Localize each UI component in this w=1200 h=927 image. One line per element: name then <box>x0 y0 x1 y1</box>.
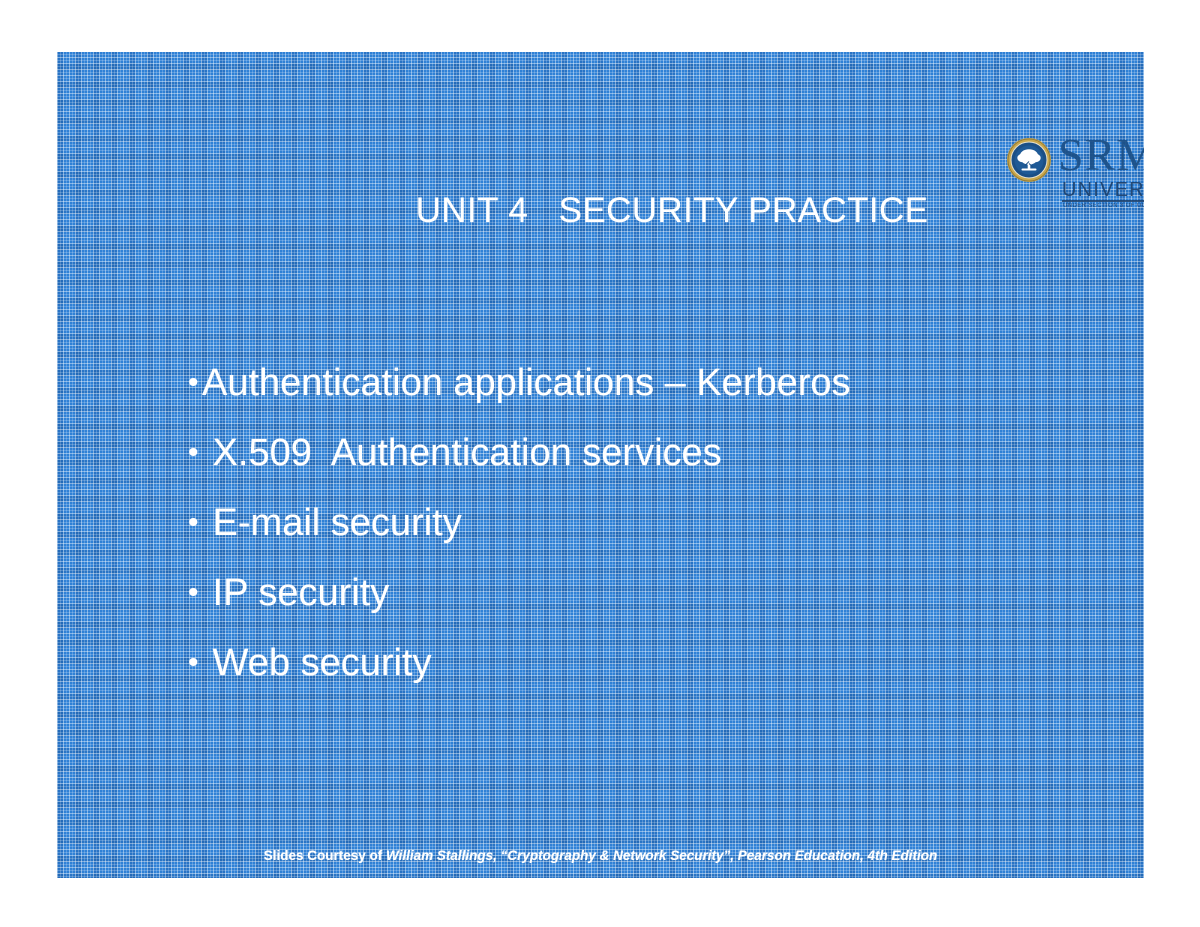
list-item-label: IP security <box>202 558 389 628</box>
list-item-label: E-mail security <box>202 488 462 558</box>
presentation-slide: SRM UNIVERSITY UNDER SECTION 3 OF UGC AC… <box>57 52 1144 878</box>
slide-title: UNIT 4 SECURITY PRACTICE <box>362 190 982 232</box>
slide-footer-credit: Slides Courtesy of William Stallings, “C… <box>57 847 1144 865</box>
list-item: • IP security <box>188 558 1068 628</box>
bullet-marker-icon: • <box>188 348 202 418</box>
logo-subtitle: UNIVERSITY <box>1062 179 1144 201</box>
footer-italic-text: William Stallings, “Cryptography & Netwo… <box>382 848 937 863</box>
list-item: • Web security <box>188 628 1068 698</box>
list-item-label: Authentication applications – Kerberos <box>202 348 851 418</box>
list-item: • Authentication applications – Kerberos <box>188 348 1068 418</box>
list-item-label: X.509 Authentication services <box>202 418 722 488</box>
logo-wordmark: SRM <box>1058 132 1144 178</box>
list-item-label: Web security <box>202 628 431 698</box>
slide-page: SRM UNIVERSITY UNDER SECTION 3 OF UGC AC… <box>0 0 1200 927</box>
tree-seal-icon <box>1006 137 1052 183</box>
footer-bold-text: Slides Courtesy of <box>264 848 383 863</box>
logo-tagline: UNDER SECTION 3 OF UGC ACT 1956 <box>1063 202 1144 211</box>
list-item: • E-mail security <box>188 488 1068 558</box>
bullet-marker-icon: • <box>188 558 202 628</box>
bullet-marker-icon: • <box>188 488 202 558</box>
bullet-marker-icon: • <box>188 418 202 488</box>
slide-bullet-list: • Authentication applications – Kerberos… <box>188 348 1068 698</box>
slide-content: SRM UNIVERSITY UNDER SECTION 3 OF UGC AC… <box>57 52 1144 878</box>
bullet-marker-icon: • <box>188 628 202 698</box>
list-item: • X.509 Authentication services <box>188 418 1068 488</box>
